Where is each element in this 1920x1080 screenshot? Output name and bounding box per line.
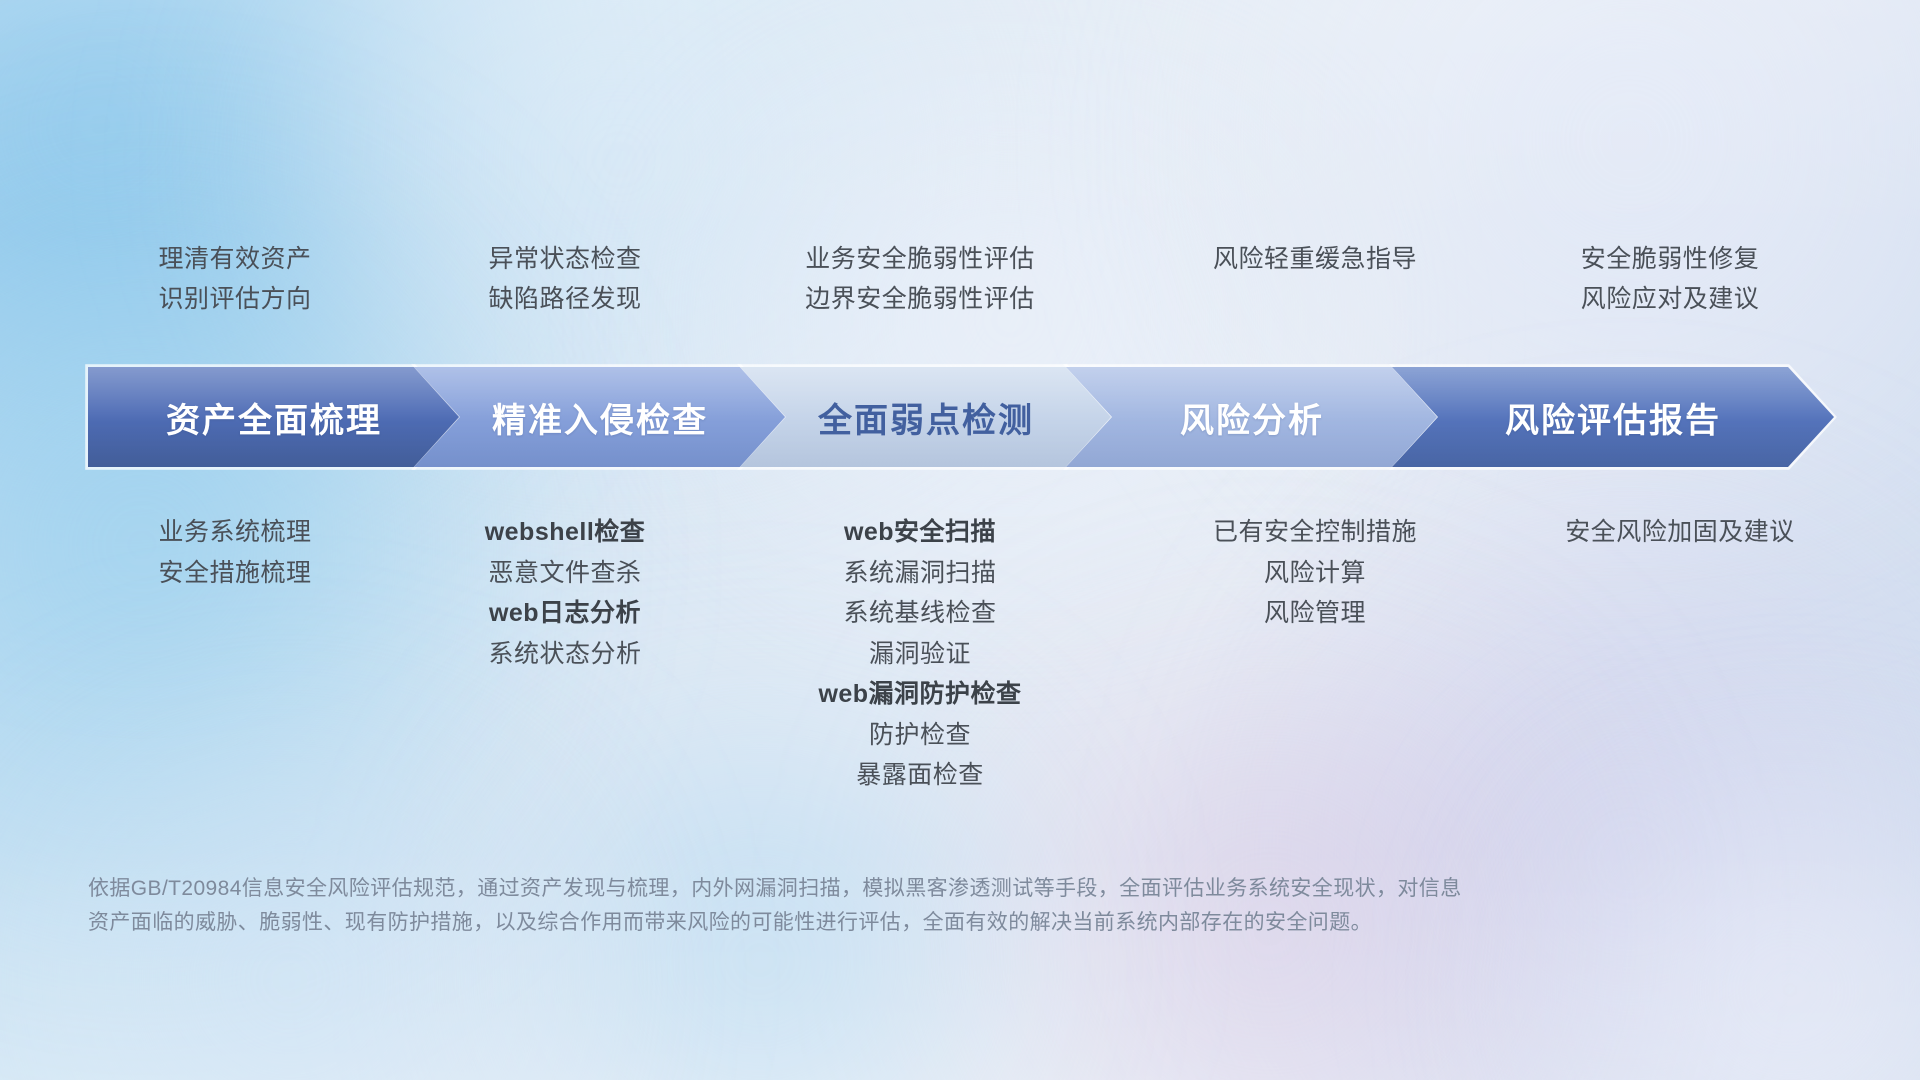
list-item: 系统基线检查 xyxy=(700,593,1140,634)
list-item: 安全风险加固及建议 xyxy=(1470,512,1890,553)
caption-line: 边界安全脆弱性评估 xyxy=(700,280,1140,320)
list-item: 风险计算 xyxy=(1115,553,1515,594)
stage-bottom-list-risk-analysis: 已有安全控制措施 风险计算 风险管理 xyxy=(1115,512,1515,634)
chevron-weakness-detection[interactable]: 全面弱点检测 xyxy=(740,367,1112,467)
stage-bottom-list-risk-report: 安全风险加固及建议 xyxy=(1470,512,1890,553)
stage-top-captions-weakness-detection: 业务安全脆弱性评估 边界安全脆弱性评估 xyxy=(700,240,1140,319)
caption-line: 风险轻重缓急指导 xyxy=(1115,240,1515,280)
list-item: 风险管理 xyxy=(1115,593,1515,634)
footer-line: 依据GB/T20984信息安全风险评估规范，通过资产发现与梳理，内外网漏洞扫描，… xyxy=(88,872,1548,906)
list-item: web漏洞防护检查 xyxy=(700,674,1140,715)
chevron-risk-analysis[interactable]: 风险分析 xyxy=(1066,367,1438,467)
process-diagram: 理清有效资产 识别评估方向 异常状态检查 缺陷路径发现 业务安全脆弱性评估 边界… xyxy=(0,0,1920,1080)
caption-line: 安全脆弱性修复 xyxy=(1470,240,1870,280)
chevron-label: 风险评估报告 xyxy=(1505,393,1721,442)
chevron-label: 精准入侵检查 xyxy=(492,393,708,442)
list-item: web安全扫描 xyxy=(700,512,1140,553)
chevron-label: 全面弱点检测 xyxy=(818,393,1034,442)
list-item: 已有安全控制措施 xyxy=(1115,512,1515,553)
list-item: 系统漏洞扫描 xyxy=(700,553,1140,594)
chevron-label: 资产全面梳理 xyxy=(166,393,382,442)
chevron-label: 风险分析 xyxy=(1180,393,1324,442)
list-item: 漏洞验证 xyxy=(700,634,1140,675)
chevron-asset-inventory[interactable]: 资产全面梳理 xyxy=(88,367,460,467)
footer-line: 资产面临的威胁、脆弱性、现有防护措施，以及综合作用而带来风险的可能性进行评估，全… xyxy=(88,906,1548,940)
stage-top-captions-risk-report: 安全脆弱性修复 风险应对及建议 xyxy=(1470,240,1870,319)
stage-bottom-list-weakness-detection: web安全扫描 系统漏洞扫描 系统基线检查 漏洞验证 web漏洞防护检查 防护检… xyxy=(700,512,1140,796)
chevron-risk-report[interactable]: 风险评估报告 xyxy=(1392,367,1834,467)
caption-line: 业务安全脆弱性评估 xyxy=(700,240,1140,280)
list-item: 防护检查 xyxy=(700,715,1140,756)
caption-line: 风险应对及建议 xyxy=(1470,280,1870,320)
stage-top-captions-risk-analysis: 风险轻重缓急指导 xyxy=(1115,240,1515,280)
footer-description: 依据GB/T20984信息安全风险评估规范，通过资产发现与梳理，内外网漏洞扫描，… xyxy=(88,872,1548,940)
chevron-intrusion-check[interactable]: 精准入侵检查 xyxy=(414,367,786,467)
stage-chevron-band: 资产全面梳理 精准入侵检查 全面弱点检测 风险分析 xyxy=(88,367,1834,467)
list-item: 暴露面检查 xyxy=(700,755,1140,796)
